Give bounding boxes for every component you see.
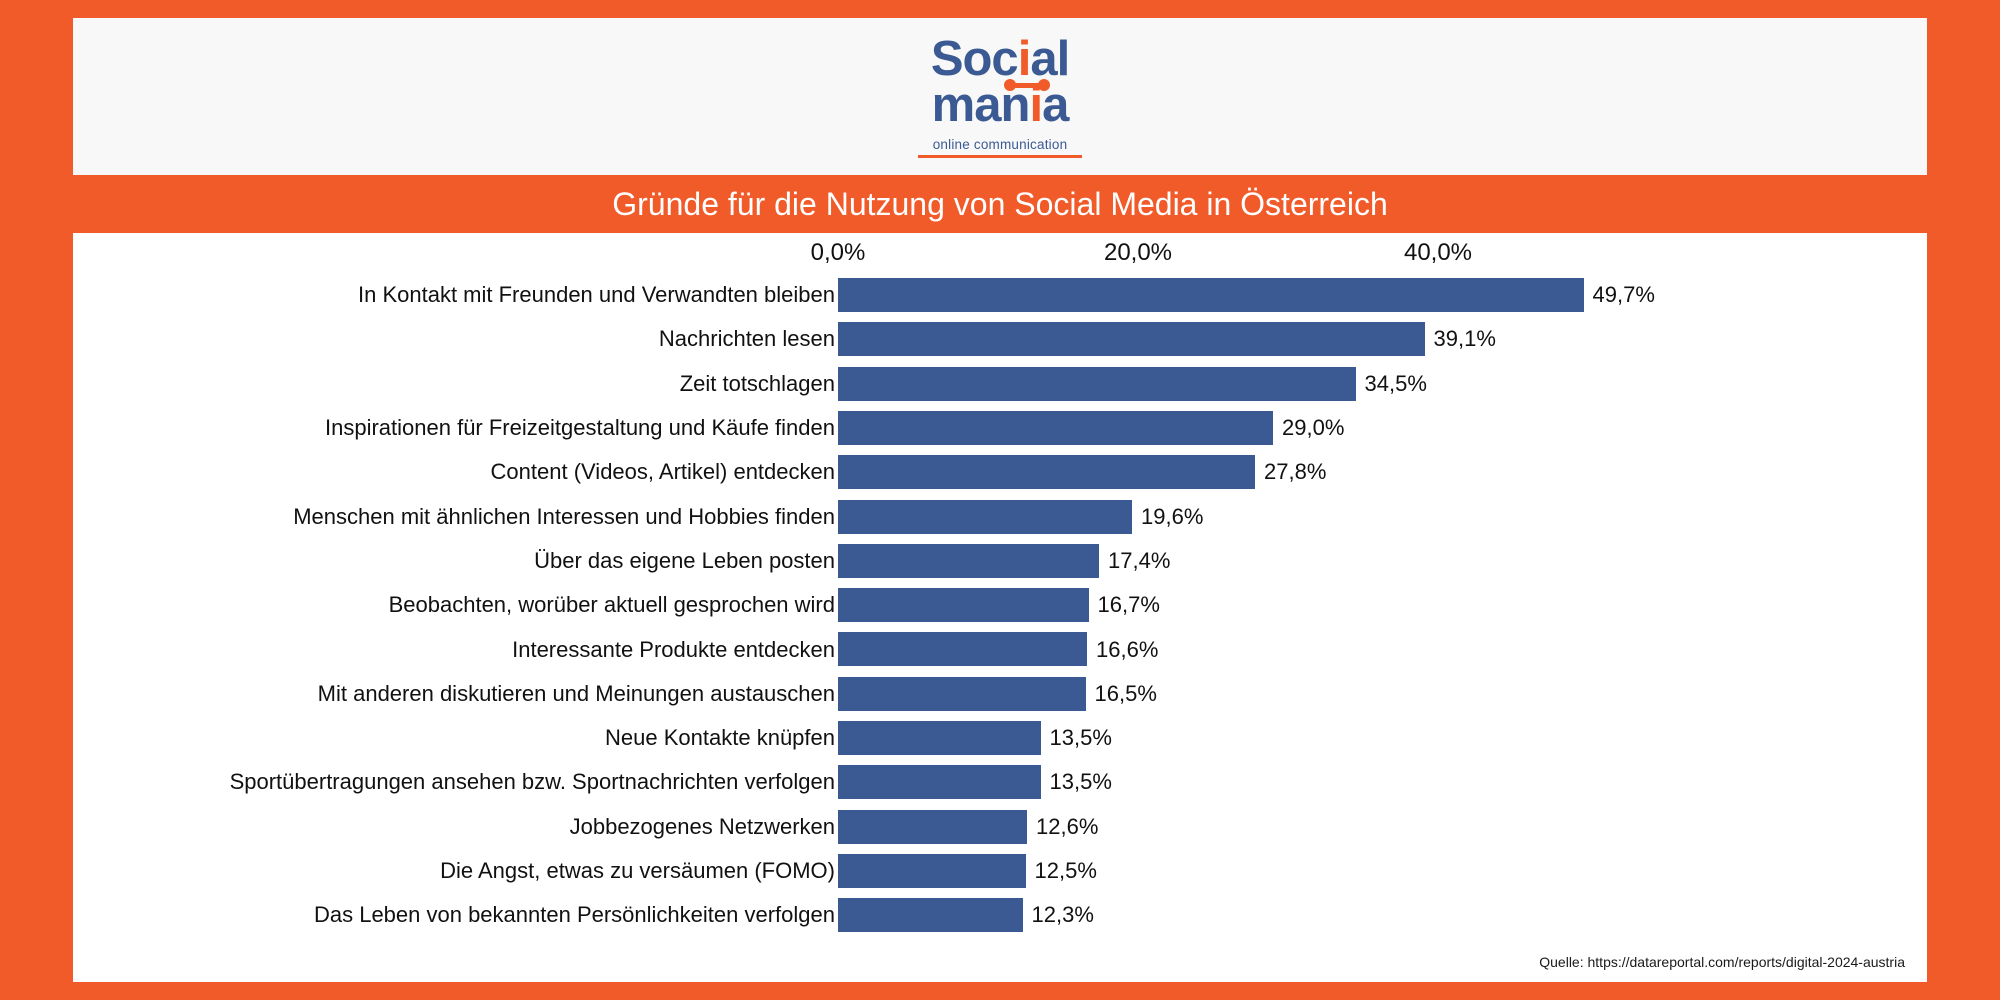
category-label: Interessante Produkte entdecken [512,627,835,671]
category-label: Beobachten, worüber aktuell gesprochen w… [389,583,835,627]
bar-value-label: 27,8% [1255,450,1326,494]
bar-value-label: 16,7% [1089,583,1160,627]
bar[interactable] [838,544,1099,578]
logo-orange-i-bottom: i [1029,78,1042,132]
chart-row: Beobachten, worüber aktuell gesprochen w… [73,583,1927,627]
x-tick-label: 40,0% [1404,239,1472,267]
chart-row: Interessante Produkte entdecken16,6% [73,627,1927,671]
category-label: Mit anderen diskutieren und Meinungen au… [318,672,835,716]
bar-value-label: 13,5% [1041,760,1112,804]
bar[interactable] [838,854,1026,888]
bar-value-label: 17,4% [1099,539,1170,583]
logo-text-man: man [932,78,1030,132]
bar-value-label: 39,1% [1425,317,1496,361]
bar-value-label: 16,5% [1086,672,1157,716]
logo-underline [918,155,1082,158]
x-axis-tick-labels: 0,0%20,0%40,0% [73,233,1927,273]
category-label: Inspirationen für Freizeitgestaltung und… [325,406,835,450]
bar[interactable] [838,500,1132,534]
category-label: Sportübertragungen ansehen bzw. Sportnac… [230,760,835,804]
bar[interactable] [838,677,1086,711]
x-tick-label: 0,0% [811,239,866,267]
bar[interactable] [838,898,1023,932]
bar-value-label: 16,6% [1087,627,1158,671]
bar[interactable] [838,810,1027,844]
category-label: In Kontakt mit Freunden und Verwandten b… [358,273,835,317]
bar[interactable] [838,455,1255,489]
category-label: Zeit totschlagen [680,362,835,406]
bar-value-label: 12,3% [1023,893,1094,937]
header-panel: Social mania online communication [73,18,1927,175]
category-label: Menschen mit ähnlichen Interessen und Ho… [293,495,835,539]
bar[interactable] [838,411,1273,445]
bar-value-label: 34,5% [1356,362,1427,406]
chart-row: Das Leben von bekannten Persönlichkeiten… [73,893,1927,937]
bar[interactable] [838,588,1089,622]
category-label: Über das eigene Leben posten [534,539,835,583]
bar-value-label: 12,5% [1026,849,1097,893]
poster-canvas: Social mania online communication Gründe… [0,0,2000,1000]
bar-chart-plot: In Kontakt mit Freunden und Verwandten b… [73,273,1927,973]
chart-row: Sportübertragungen ansehen bzw. Sportnac… [73,760,1927,804]
logo-wordmark-line2: mania [900,81,1100,130]
bar[interactable] [838,278,1584,312]
chart-row: Content (Videos, Artikel) entdecken27,8% [73,450,1927,494]
chart-row: Mit anderen diskutieren und Meinungen au… [73,672,1927,716]
chart-row: Inspirationen für Freizeitgestaltung und… [73,406,1927,450]
x-tick-label: 20,0% [1104,239,1172,267]
bar-value-label: 13,5% [1041,716,1112,760]
bar-value-label: 49,7% [1584,273,1655,317]
source-citation: Quelle: https://datareportal.com/reports… [1539,954,1905,970]
bar[interactable] [838,765,1041,799]
logo-wordmark-line1: Social [900,35,1100,84]
bar[interactable] [838,632,1087,666]
bar[interactable] [838,721,1041,755]
logo-tagline: online communication [900,137,1100,152]
socialmania-logo: Social mania online communication [900,29,1100,164]
category-label: Nachrichten lesen [659,317,835,361]
logo-text-a: a [1042,78,1068,132]
bar[interactable] [838,367,1356,401]
bar-value-label: 12,6% [1027,805,1098,849]
category-label: Jobbezogenes Netzwerken [570,805,835,849]
category-label: Neue Kontakte knüpfen [605,716,835,760]
chart-row: Neue Kontakte knüpfen13,5% [73,716,1927,760]
category-label: Das Leben von bekannten Persönlichkeiten… [314,893,835,937]
chart-row: Zeit totschlagen34,5% [73,362,1927,406]
chart-row: Die Angst, etwas zu versäumen (FOMO)12,5… [73,849,1927,893]
category-label: Content (Videos, Artikel) entdecken [491,450,835,494]
chart-row: Jobbezogenes Netzwerken12,6% [73,805,1927,849]
page-title: Gründe für die Nutzung von Social Media … [73,180,1927,228]
bar-value-label: 29,0% [1273,406,1344,450]
chart-panel: 0,0%20,0%40,0% In Kontakt mit Freunden u… [73,233,1927,982]
chart-row: Über das eigene Leben posten17,4% [73,539,1927,583]
chart-row: In Kontakt mit Freunden und Verwandten b… [73,273,1927,317]
chart-row: Menschen mit ähnlichen Interessen und Ho… [73,495,1927,539]
category-label: Die Angst, etwas zu versäumen (FOMO) [440,849,835,893]
bar-value-label: 19,6% [1132,495,1203,539]
chart-row: Nachrichten lesen39,1% [73,317,1927,361]
bar[interactable] [838,322,1425,356]
